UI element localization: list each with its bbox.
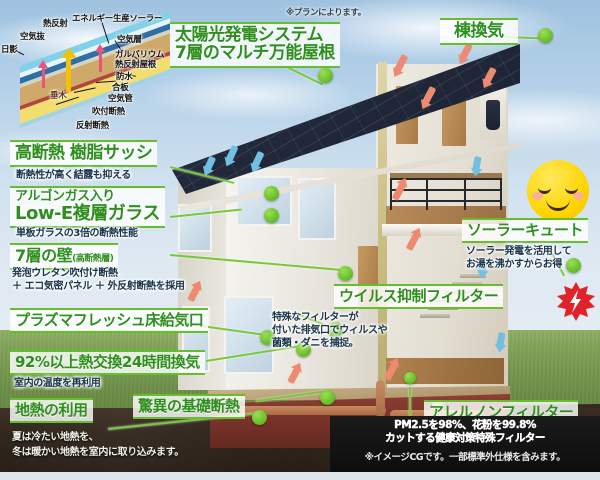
callout-virus-filter-sub3: 菌類・ダニを捕捉。 xyxy=(272,338,358,350)
heat-reflect-arrow xyxy=(66,54,71,92)
diagram-label-rafter: 垂木 xyxy=(50,89,66,101)
callout-foundation-insulation[interactable]: 驚異の基礎断熱 xyxy=(133,394,245,419)
callout-heat-exchange-ventilation-sub: 室内の温度を再利用 xyxy=(14,378,100,390)
heat-reflect-arrowhead xyxy=(61,48,77,58)
callout-low-e-glass-sub: 単板ガラスの3倍の断熱性能 xyxy=(16,228,138,240)
bottom-info-banner: PM2.5を98%、花粉を99.8% カットする健康対策特殊フィルター ※イメー… xyxy=(330,416,600,472)
callout-low-e-glass-line1: アルゴンガス入り xyxy=(15,190,160,204)
air-exhaust-arrow xyxy=(99,50,102,72)
air-duct-riser xyxy=(376,380,385,418)
marker-allernon[interactable] xyxy=(404,372,416,384)
smiley-mouth xyxy=(546,193,570,211)
lightning-burst-icon xyxy=(556,281,596,321)
callout-ridge-vent-line1: 棟換気 xyxy=(454,22,504,40)
marker-lowe[interactable] xyxy=(264,208,279,223)
callout-geothermal-sub2: 冬は暖かい地熱を室内に取り込みます。 xyxy=(12,447,184,459)
marker-wall[interactable] xyxy=(338,266,353,281)
diagram-label-reflective: 反射断熱 xyxy=(76,119,109,131)
banner-line-1a: PM2.5を98%、花粉を99.8% xyxy=(338,419,592,432)
callout-plasma-fresh-inlet[interactable]: プラズマフレッシュ床給気口 xyxy=(10,308,208,333)
callout-virus-filter[interactable]: ウイルス抑制フィルター xyxy=(334,284,503,309)
marker-solar-cute[interactable] xyxy=(566,258,581,273)
diagram-label-heat-reflect-roof: 熱反射屋根 xyxy=(115,58,156,70)
callout-geothermal-line1: 地熱の利用 xyxy=(15,402,88,418)
diagram-label-foam: 吹付断熱 xyxy=(92,105,125,117)
marker-geothermal[interactable] xyxy=(252,410,267,425)
diagram-label-air-vent: 空気抜 xyxy=(20,30,45,42)
callout-solar-roof[interactable]: 太陽光発電システム 7層のマルチ万能屋根 xyxy=(170,22,340,68)
plan-disclaimer-note: ※プランによります。 xyxy=(286,6,366,18)
hanging-coat xyxy=(486,100,500,130)
callout-virus-filter-line1: ウイルス抑制フィルター xyxy=(339,288,498,304)
callout-solar-cute[interactable]: ソーラーキュート xyxy=(462,218,588,243)
smiley-cheek-left xyxy=(532,192,543,200)
callout-virus-filter-sub2: 付いた排気口でウィルスや xyxy=(272,325,387,337)
air-vent-arrowhead xyxy=(38,60,48,68)
callout-heat-exchange-ventilation-line1: 92%以上熱交換24時間換気 xyxy=(15,354,200,370)
callout-seven-layer-wall-small: (高断熱層) xyxy=(72,254,113,264)
callout-resin-sash[interactable]: 高断熱 樹脂サッシ xyxy=(10,140,157,167)
callout-geothermal[interactable]: 地熱の利用 xyxy=(10,398,93,423)
callout-solar-cute-line1: ソーラーキュート xyxy=(467,222,583,238)
callout-heat-exchange-ventilation[interactable]: 92%以上熱交換24時間換気 xyxy=(10,350,205,375)
callout-resin-sash-line1: 高断熱 樹脂サッシ xyxy=(15,144,152,162)
callout-resin-sash-sub: 断熱性が高く結露も抑える xyxy=(16,170,131,182)
callout-seven-layer-wall-sub1: 発泡ウレタン吹付け断熱 xyxy=(12,268,118,280)
smiley-face-icon xyxy=(527,160,589,222)
marker-solar-roof[interactable] xyxy=(318,68,333,83)
marker-ridge-vent[interactable] xyxy=(538,28,553,43)
diagram-label-solar: エネルギー生産ソーラー xyxy=(72,12,162,24)
diagram-label-airpipe: 空気管 xyxy=(108,92,133,104)
callout-virus-filter-sub1: 特殊なフィルターが xyxy=(272,312,358,324)
callout-low-e-glass-line2: Low-E複層ガラス xyxy=(15,204,160,223)
banner-text-block: PM2.5を98%、花粉を99.8% カットする健康対策特殊フィルター xyxy=(338,419,592,445)
air-vent-arrow xyxy=(42,66,45,88)
callout-ridge-vent[interactable]: 棟換気 xyxy=(440,18,518,45)
callout-solar-roof-line1: 太陽光発電システム xyxy=(175,26,335,44)
callout-seven-layer-wall-sub2: ＋ エコ気密パネル ＋ 外反射断熱を採用 xyxy=(12,281,184,293)
callout-seven-layer-wall-line1: 7層の壁 xyxy=(15,246,72,265)
callout-plasma-fresh-inlet-line1: プラズマフレッシュ床給気口 xyxy=(15,312,203,328)
air-exhaust-arrowhead xyxy=(95,44,105,52)
banner-line-2: ※イメージCGです。一部標準外仕様を含みます。 xyxy=(338,449,592,463)
airflow-arrow-cool-4 xyxy=(472,156,481,171)
smiley-cheek-right xyxy=(573,192,584,200)
callout-solar-cute-sub1: ソーラー発電を活用して xyxy=(466,246,571,258)
callout-seven-layer-wall[interactable]: 7層の壁(高断熱層) xyxy=(10,243,118,270)
airflow-arrow-cool-6 xyxy=(496,332,505,347)
callout-geothermal-sub1: 夏は冷たい地熱を、 xyxy=(12,432,98,444)
diagram-label-airgap: 空気層 xyxy=(117,33,142,45)
infographic-canvas: エネルギー生産ソーラー 空気層 ガルバリウム 熱反射屋根 防水 合板 空気管 吹… xyxy=(0,0,600,480)
house-cutaway-illustration xyxy=(180,28,510,418)
callout-solar-cute-sub2: お湯を沸かすからお得 xyxy=(466,259,562,271)
diagram-label-shade: 日影 xyxy=(1,43,17,55)
callout-low-e-glass[interactable]: アルゴンガス入り Low-E複層ガラス xyxy=(10,186,165,228)
callout-solar-roof-line2: 7層のマルチ万能屋根 xyxy=(175,44,335,62)
diagram-label-heat-reflection: 熱反射 xyxy=(43,17,68,29)
footer-band xyxy=(0,472,600,480)
callout-foundation-insulation-line1: 驚異の基礎断熱 xyxy=(138,398,240,414)
marker-sash[interactable] xyxy=(264,186,279,201)
marker-foundation[interactable] xyxy=(320,390,335,405)
banner-line-1b: カットする健康対策特殊フィルター xyxy=(338,432,592,445)
